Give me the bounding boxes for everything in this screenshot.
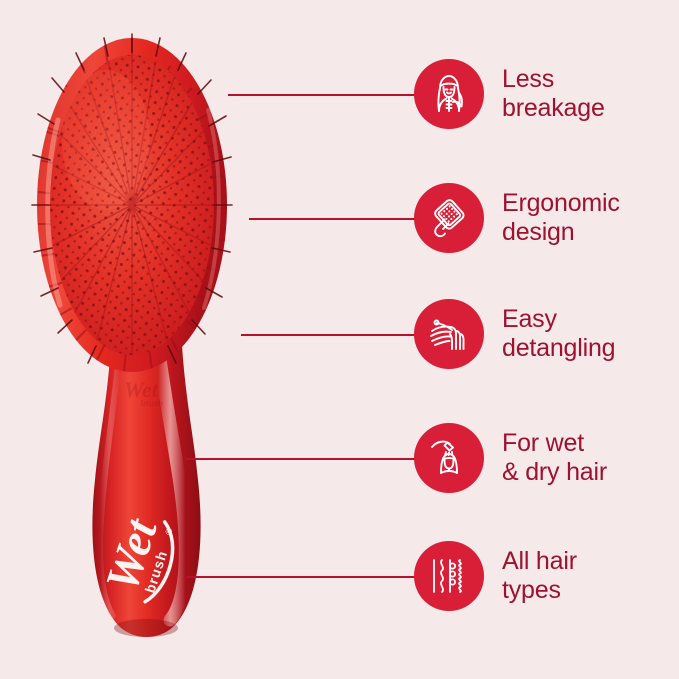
feature-label-less-breakage: Less breakage (502, 65, 605, 124)
feature-item-all-hair-types: All hair types (414, 541, 577, 611)
feature-badge-easy-detangling (414, 299, 484, 369)
brush-bristle-pad (32, 34, 232, 370)
feature-item-ergonomic-design: Ergonomic design (414, 183, 620, 253)
feature-item-less-breakage: Less breakage (414, 59, 605, 129)
feature-label-for-wet-dry-hair: For wet & dry hair (502, 429, 607, 488)
feature-item-easy-detangling: Easy detangling (414, 299, 615, 369)
connector-line-easy-detangling (241, 334, 416, 336)
feature-item-for-wet-dry-hair: For wet & dry hair (414, 423, 607, 493)
feature-badge-all-hair-types (414, 541, 484, 611)
hand-detangling-hair-icon (426, 311, 472, 357)
feature-label-all-hair-types: All hair types (502, 547, 577, 606)
feature-label-ergonomic-design: Ergonomic design (502, 189, 620, 248)
connector-line-all-hair-types (186, 576, 416, 578)
hair-types-strands-icon (426, 553, 472, 599)
feature-badge-for-wet-dry-hair (414, 423, 484, 493)
feature-badge-less-breakage (414, 59, 484, 129)
paddle-brush-icon (426, 195, 472, 241)
connector-line-for-wet-dry-hair (186, 458, 416, 460)
feature-badge-ergonomic-design (414, 183, 484, 253)
product-infographic: Wet brush (0, 0, 679, 679)
shower-head-wet-hair-icon (426, 435, 472, 481)
emboss-logo-sub: brush (141, 399, 163, 408)
girl-brushing-hair-icon (426, 71, 472, 117)
connector-line-ergonomic-design (249, 218, 416, 220)
connector-line-less-breakage (228, 94, 416, 96)
feature-label-easy-detangling: Easy detangling (502, 305, 615, 364)
